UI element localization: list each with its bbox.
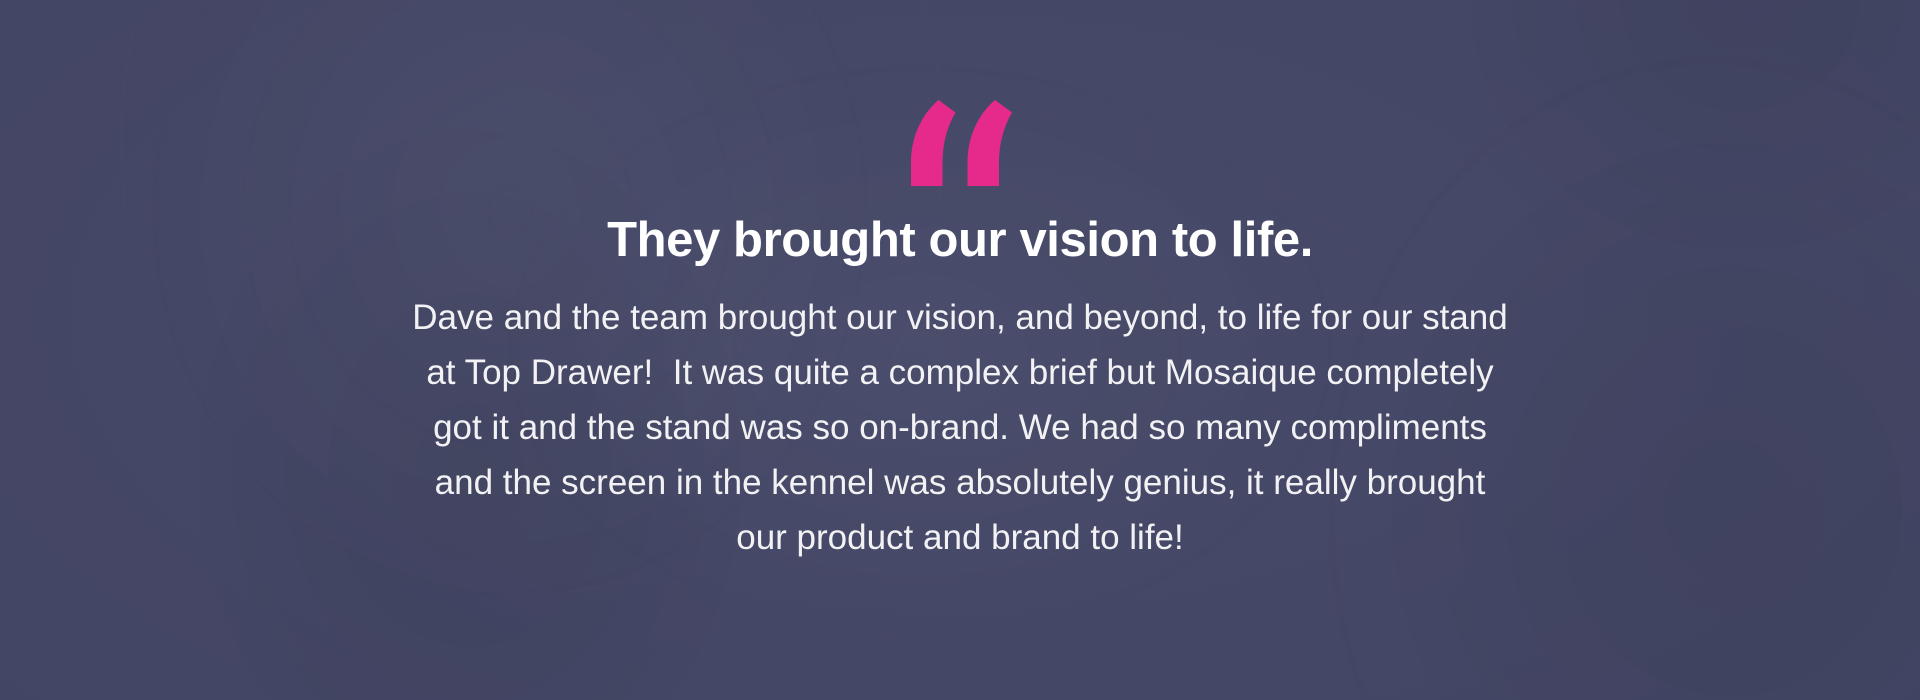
open-quote-icon [908, 100, 1012, 186]
testimonial-heading: They brought our vision to life. [607, 212, 1313, 268]
testimonial-body: Dave and the team brought our vision, an… [405, 290, 1515, 565]
testimonial-content: They brought our vision to life. Dave an… [0, 0, 1920, 565]
testimonial-section: They brought our vision to life. Dave an… [0, 0, 1920, 700]
